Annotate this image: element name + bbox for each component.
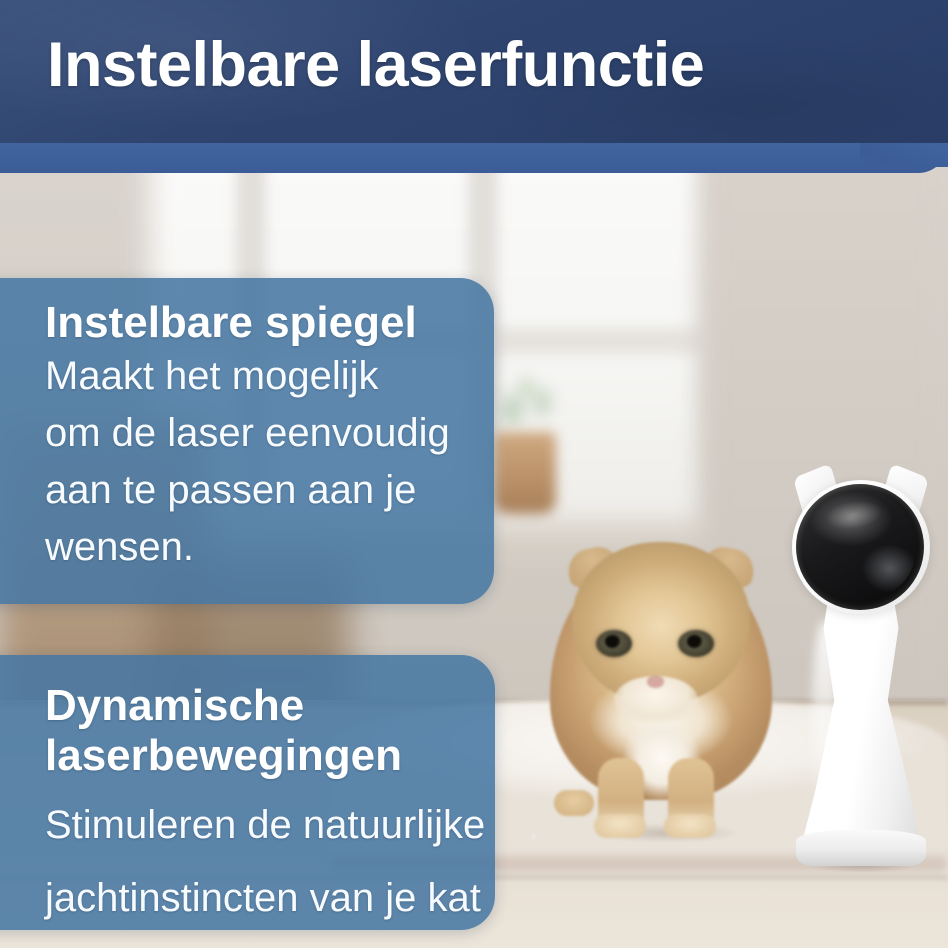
cat-eye-right [678, 630, 714, 657]
feature-card-dynamic-laser-movements: Dynamische laserbewegingen Stimuleren de… [0, 655, 495, 930]
feature-card-1-body-line-3: aan te passen aan je [45, 462, 494, 519]
feature-card-2-body-line-2: jachtinstincten van je kat [45, 870, 495, 927]
device-base [796, 830, 926, 866]
feature-card-2-heading-line-1: Dynamische [45, 681, 495, 731]
cat-photo [510, 490, 810, 835]
feature-card-2-body-line-1: Stimuleren de natuurlijke [45, 797, 495, 854]
feature-card-1-body-line-2: om de laser eenvoudig [45, 405, 494, 462]
cat-paw-right [664, 814, 716, 838]
cat-nose [647, 676, 664, 688]
product-feature-poster: Instelbare laserfunctie Instelbare spieg… [0, 0, 948, 948]
laser-toy-device [778, 470, 944, 870]
feature-card-2-heading-line-2: laserbewegingen [45, 731, 495, 781]
header-accent-stripe [0, 143, 948, 173]
page-title: Instelbare laserfunctie [47, 29, 704, 101]
feature-card-1-body-line-1: Maakt het mogelijk [45, 348, 494, 405]
header-accent-tail [860, 143, 948, 167]
cat-paw-back [554, 790, 594, 816]
feature-card-1-content: Instelbare spiegel Maakt het mogelijk om… [45, 298, 494, 576]
cat-paw-left [594, 814, 646, 838]
device-highlight [812, 620, 838, 820]
header-bar: Instelbare laserfunctie [0, 0, 948, 146]
feature-card-adjustable-mirror: Instelbare spiegel Maakt het mogelijk om… [0, 278, 494, 604]
feature-card-2-content: Dynamische laserbewegingen Stimuleren de… [45, 681, 495, 927]
feature-card-1-body-line-4: wensen. [45, 519, 494, 576]
feature-card-1-heading: Instelbare spiegel [45, 298, 494, 348]
cat-eye-left [596, 630, 632, 657]
